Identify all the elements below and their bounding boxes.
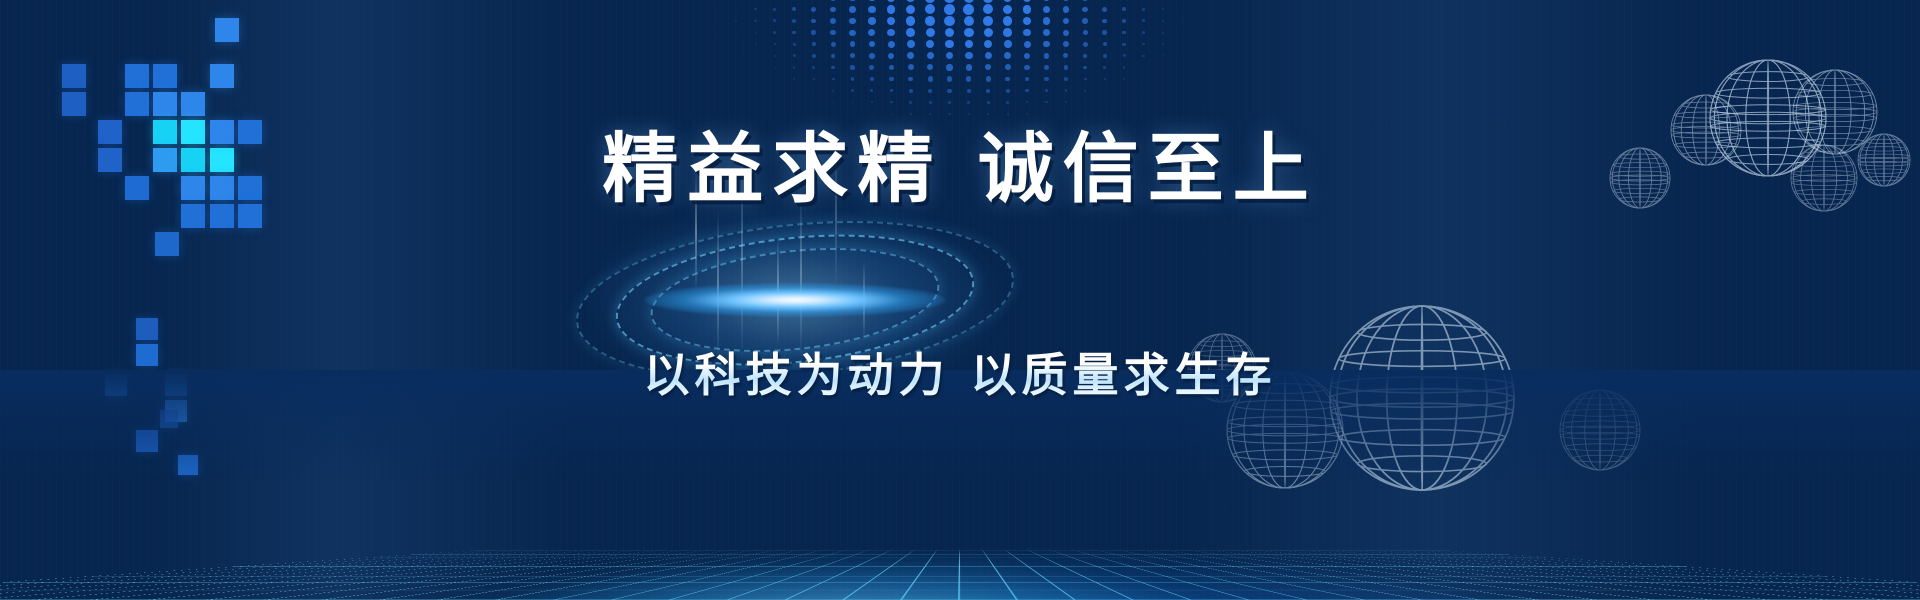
- halftone-dot: [774, 43, 777, 46]
- halftone-dot: [832, 90, 834, 92]
- halftone-dot: [1004, 52, 1011, 59]
- halftone-dot: [868, 6, 876, 14]
- halftone-dot: [1123, 66, 1125, 68]
- halftone-dot: [830, 0, 836, 1]
- halftone-dot: [1122, 19, 1126, 23]
- halftone-dot: [830, 7, 836, 13]
- halftone-dot: [1103, 66, 1106, 69]
- halftone-dot: [1102, 30, 1107, 35]
- halftone-dot: [1063, 53, 1068, 58]
- halftone-dot: [928, 89, 932, 93]
- halftone-dot: [1063, 41, 1069, 47]
- halftone-dot: [1143, 67, 1145, 69]
- halftone-dot: [1003, 0, 1012, 2]
- halftone-dot: [1123, 78, 1125, 80]
- halftone-dot: [1044, 77, 1048, 81]
- halftone-dot: [965, 52, 972, 59]
- halftone-dot: [1182, 55, 1183, 56]
- halftone-dot: [964, 28, 973, 37]
- halftone-dot: [987, 101, 990, 104]
- halftone-dot: [1043, 6, 1051, 14]
- background-scanlines: [0, 0, 1920, 600]
- halftone-dot: [906, 0, 915, 2]
- halftone-dot: [1162, 79, 1163, 80]
- halftone-dot: [1063, 0, 1070, 1]
- halftone-dot: [868, 0, 875, 1]
- halftone-dot: [985, 64, 991, 70]
- light-streak: [717, 210, 719, 360]
- halftone-dot: [850, 41, 856, 47]
- halftone-dot: [1023, 5, 1031, 13]
- halftone-dot: [1004, 40, 1012, 48]
- halftone-dot: [1103, 54, 1107, 58]
- halftone-dot: [906, 16, 915, 25]
- halftone-dot: [773, 8, 776, 11]
- halftone-dot: [755, 43, 757, 45]
- halftone-dot: [945, 40, 953, 48]
- halftone-dot: [983, 16, 993, 26]
- halftone-dot: [793, 66, 795, 68]
- halftone-dot: [906, 5, 915, 14]
- light-streak: [777, 236, 779, 346]
- halftone-dot: [773, 19, 776, 22]
- halftone-dot: [850, 65, 854, 69]
- halftone-dot: [983, 4, 993, 14]
- halftone-dot: [966, 76, 971, 81]
- halftone-dot: [1003, 28, 1011, 36]
- halftone-dot: [1023, 29, 1031, 37]
- halftone-dot: [925, 4, 935, 14]
- background-sheen-left: [150, 0, 570, 600]
- halftone-dot: [794, 102, 795, 103]
- halftone-dot: [870, 89, 873, 92]
- halftone-dot: [811, 30, 816, 35]
- halftone-dot: [774, 67, 776, 69]
- halftone-dot: [794, 90, 795, 91]
- halftone-dot: [965, 40, 973, 48]
- halftone-dot: [1045, 89, 1048, 92]
- halftone-dot: [869, 53, 875, 59]
- halftone-dot: [735, 20, 736, 21]
- halftone-dot: [1063, 6, 1070, 13]
- halftone-dot: [1122, 7, 1126, 11]
- halftone-dot: [889, 65, 894, 70]
- halftone-dot: [774, 55, 776, 57]
- banner-headline: 精益求精 诚信至上: [0, 107, 1920, 217]
- mosaic-square: [125, 64, 149, 88]
- halftone-dot: [1084, 90, 1086, 92]
- halftone-dot: [849, 18, 856, 25]
- halftone-dot: [1104, 78, 1106, 80]
- halftone-dot-matrix: [610, 0, 1170, 116]
- halftone-dot: [813, 90, 815, 92]
- halftone-dot: [1083, 66, 1087, 70]
- halftone-dot: [927, 64, 933, 70]
- halftone-dot: [811, 19, 816, 24]
- halftone-dot: [1103, 42, 1107, 46]
- halftone-dot: [1023, 17, 1031, 25]
- halftone-dot: [1043, 17, 1050, 24]
- halftone-dot: [1182, 44, 1183, 45]
- halftone-dot: [1142, 55, 1144, 57]
- mosaic-square: [178, 455, 198, 475]
- halftone-dot: [849, 0, 856, 1]
- halftone-dot: [1082, 18, 1088, 24]
- tech-banner: 精益求精 诚信至上 以科技为动力 以质量求生存: [0, 0, 1920, 600]
- halftone-dot: [1122, 31, 1126, 35]
- halftone-dot: [986, 89, 990, 93]
- halftone-dot: [1104, 102, 1105, 103]
- halftone-dot: [1182, 9, 1183, 10]
- halftone-dot: [986, 76, 991, 81]
- halftone-dot: [832, 102, 833, 103]
- halftone-dot: [1045, 101, 1047, 103]
- halftone-dot: [888, 53, 894, 59]
- halftone-dot: [1026, 101, 1029, 104]
- grid-lines: [0, 549, 1920, 600]
- mosaic-square: [155, 232, 179, 256]
- halftone-dot: [736, 55, 737, 56]
- halftone-dot: [755, 55, 756, 56]
- halftone-dot: [849, 30, 855, 36]
- halftone-dot: [850, 53, 855, 58]
- halftone-dot: [1063, 30, 1069, 36]
- halftone-dot: [1043, 41, 1049, 47]
- halftone-dot: [887, 29, 895, 37]
- halftone-dot: [1003, 5, 1012, 14]
- halftone-dot: [870, 77, 874, 81]
- halftone-dot: [831, 66, 835, 70]
- halftone-dot: [1084, 78, 1087, 81]
- halftone-dot: [1162, 55, 1163, 56]
- halftone-dot: [851, 89, 854, 92]
- halftone-dot: [964, 16, 974, 26]
- halftone-dot: [830, 18, 836, 24]
- halftone-dot: [907, 52, 914, 59]
- halftone-dot: [1142, 19, 1145, 22]
- halftone-dot: [925, 0, 935, 3]
- halftone-dot: [1143, 90, 1144, 91]
- halftone-dot: [887, 17, 895, 25]
- halftone-dot: [871, 101, 873, 103]
- halftone-dot: [1024, 53, 1030, 59]
- halftone-dot: [792, 31, 796, 35]
- halftone-dot: [1102, 7, 1107, 12]
- halftone-dot: [831, 54, 835, 58]
- halftone-dot: [887, 5, 895, 13]
- halftone-dot: [944, 16, 954, 26]
- halftone-dot: [1182, 20, 1183, 21]
- halftone-dot: [793, 43, 796, 46]
- halftone-dot: [906, 28, 914, 36]
- halftone-dot: [1102, 19, 1107, 24]
- halftone-dot: [754, 20, 756, 22]
- halftone-dot: [909, 101, 912, 104]
- halftone-dot: [1182, 32, 1183, 33]
- halftone-dot: [735, 9, 736, 10]
- halftone-dot: [736, 32, 737, 33]
- halftone-dot: [1124, 102, 1125, 103]
- halftone-dot: [831, 42, 836, 47]
- halftone-dot: [1162, 43, 1164, 45]
- halftone-dot: [1122, 43, 1125, 46]
- halftone-dot: [1064, 65, 1068, 69]
- halftone-dot: [812, 66, 815, 69]
- halftone-dot: [890, 101, 893, 104]
- halftone-dot: [946, 64, 952, 70]
- halftone-dot: [869, 65, 874, 70]
- halftone-dot: [888, 41, 895, 48]
- halftone-dot: [926, 40, 934, 48]
- halftone-dot: [909, 89, 913, 93]
- halftone-dot: [868, 29, 875, 36]
- halftone-dot: [832, 78, 835, 81]
- halftone-dot: [1083, 42, 1088, 47]
- halftone-dot: [1104, 90, 1106, 92]
- grid-glow: [0, 420, 1920, 600]
- halftone-dot: [1065, 101, 1067, 103]
- mosaic-square: [160, 410, 178, 428]
- halftone-dot: [1082, 0, 1088, 1]
- halftone-dot: [716, 32, 717, 33]
- halftone-dot: [908, 77, 913, 82]
- halftone-dot: [944, 4, 955, 15]
- halftone-dot: [1083, 54, 1087, 58]
- halftone-dot: [793, 54, 796, 57]
- halftone-dot: [812, 42, 816, 46]
- halftone-dot: [792, 19, 796, 23]
- halftone-dot: [944, 0, 954, 3]
- halftone-dot: [925, 16, 935, 26]
- halftone-dot: [964, 0, 974, 3]
- halftone-dot: [1044, 65, 1049, 70]
- halftone-dot: [887, 0, 895, 2]
- halftone-dot: [926, 28, 935, 37]
- halftone-dot: [908, 64, 914, 70]
- halftone-dot: [1024, 65, 1029, 70]
- halftone-dot: [792, 7, 796, 11]
- halftone-dot: [774, 90, 775, 91]
- mosaic-square: [215, 18, 239, 42]
- halftone-dot: [736, 44, 737, 45]
- halftone-dot: [985, 52, 992, 59]
- halftone-dot: [1005, 77, 1010, 82]
- orb-core-flare: [645, 283, 945, 317]
- halftone-dot: [754, 8, 756, 10]
- halftone-dot: [966, 64, 972, 70]
- halftone-dot: [773, 31, 776, 34]
- halftone-dot: [1003, 16, 1012, 25]
- mosaic-square: [136, 318, 158, 340]
- halftone-dot: [1024, 41, 1031, 48]
- banner-subtitle: 以科技为动力 以质量求生存: [0, 339, 1920, 405]
- halftone-dot: [928, 76, 933, 81]
- halftone-dot: [830, 30, 835, 35]
- halftone-dot: [1005, 64, 1011, 70]
- halftone-dot: [1142, 31, 1145, 34]
- halftone-dot: [813, 102, 814, 103]
- halftone-dot: [755, 32, 757, 34]
- halftone-dot: [1083, 30, 1088, 35]
- halftone-dot: [1123, 54, 1126, 57]
- mosaic-square: [62, 64, 86, 88]
- halftone-dot: [1142, 8, 1145, 11]
- halftone-dot: [1044, 53, 1050, 59]
- halftone-dot: [1064, 77, 1068, 81]
- halftone-dot: [890, 89, 894, 93]
- halftone-dot: [1085, 102, 1086, 103]
- halftone-dot: [868, 17, 875, 24]
- halftone-dot: [793, 78, 795, 80]
- halftone-dot: [983, 0, 993, 3]
- halftone-dot: [716, 9, 717, 10]
- mosaic-square: [210, 64, 234, 88]
- halftone-dot: [1142, 43, 1145, 46]
- halftone-dot: [1143, 78, 1144, 79]
- halftone-dot: [852, 101, 854, 103]
- halftone-dot: [947, 76, 952, 81]
- halftone-dot: [947, 89, 951, 93]
- halftone-dot: [984, 28, 993, 37]
- halftone-dot: [1082, 7, 1088, 13]
- halftone-dot: [1043, 0, 1050, 1]
- grid-glow-core: [0, 480, 1920, 600]
- halftone-dot: [1025, 89, 1029, 93]
- halftone-dot: [963, 4, 974, 15]
- halftone-dot: [1063, 18, 1070, 25]
- halftone-dot: [869, 41, 875, 47]
- square-mosaic-decoration: [0, 0, 320, 520]
- halftone-dot: [1025, 77, 1030, 82]
- halftone-dot: [716, 21, 717, 22]
- halftone-dot: [967, 101, 970, 104]
- halftone-dot: [755, 67, 756, 68]
- halftone-dot: [929, 101, 932, 104]
- background-sheen-right: [1180, 0, 1700, 600]
- halftone-dot: [851, 77, 855, 81]
- halftone-dot: [984, 40, 992, 48]
- halftone-dot: [1124, 90, 1125, 91]
- halftone-dot: [774, 78, 775, 79]
- halftone-dot: [889, 77, 894, 82]
- halftone-dot: [1162, 20, 1164, 22]
- halftone-dot: [1162, 67, 1163, 68]
- halftone-dot: [813, 78, 815, 80]
- halftone-dot: [948, 101, 951, 104]
- light-streak: [863, 260, 865, 340]
- halftone-dot: [1065, 89, 1068, 92]
- mosaic-square: [136, 430, 158, 452]
- halftone-dot: [907, 40, 915, 48]
- halftone-dot: [1162, 32, 1164, 34]
- halftone-dot: [1006, 89, 1010, 93]
- halftone-dot: [1023, 0, 1031, 2]
- halftone-dot: [945, 28, 954, 37]
- halftone-dot: [1043, 29, 1050, 36]
- mosaic-square: [153, 64, 177, 88]
- halftone-dot: [812, 54, 816, 58]
- halftone-dot: [811, 7, 816, 12]
- halftone-dot: [1162, 8, 1164, 10]
- halftone-dot: [967, 89, 971, 93]
- halftone-dot: [849, 6, 856, 13]
- halftone-dot: [927, 52, 934, 59]
- halftone-dot: [755, 79, 756, 80]
- halftone-dot: [946, 52, 953, 59]
- halftone-dot: [1006, 101, 1009, 104]
